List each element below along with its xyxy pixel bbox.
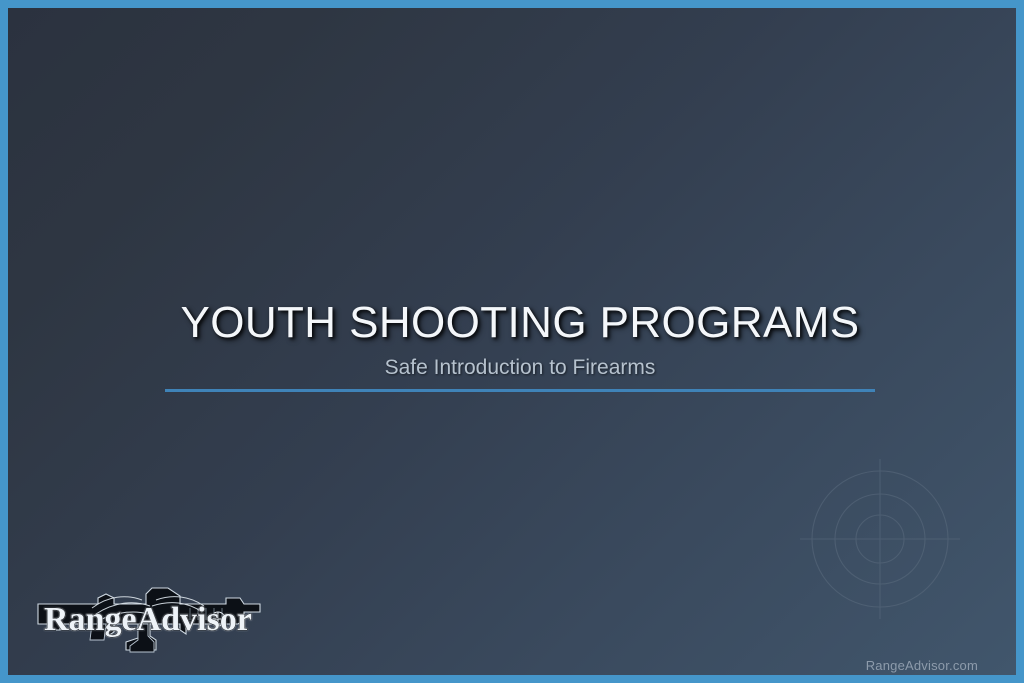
page-subtitle: Safe Introduction to Firearms (165, 354, 875, 382)
page-title: YOUTH SHOOTING PROGRAMS (165, 296, 875, 350)
slide-frame: YOUTH SHOOTING PROGRAMS Safe Introductio… (0, 0, 1024, 683)
crosshair-ring-middle (835, 494, 925, 584)
slide-canvas: YOUTH SHOOTING PROGRAMS Safe Introductio… (8, 8, 1016, 675)
logo-wordmark: RangeAdvisor (44, 601, 252, 638)
crosshair-ring-inner (856, 515, 904, 563)
title-block: YOUTH SHOOTING PROGRAMS Safe Introductio… (165, 296, 875, 382)
crosshair-ring-outer (812, 471, 948, 607)
rangeadvisor-logo: RangeAdvisor (30, 574, 268, 656)
crosshair-target-watermark (780, 439, 980, 639)
footer-website: RangeAdvisor.com (866, 658, 978, 673)
accent-divider (165, 389, 875, 392)
